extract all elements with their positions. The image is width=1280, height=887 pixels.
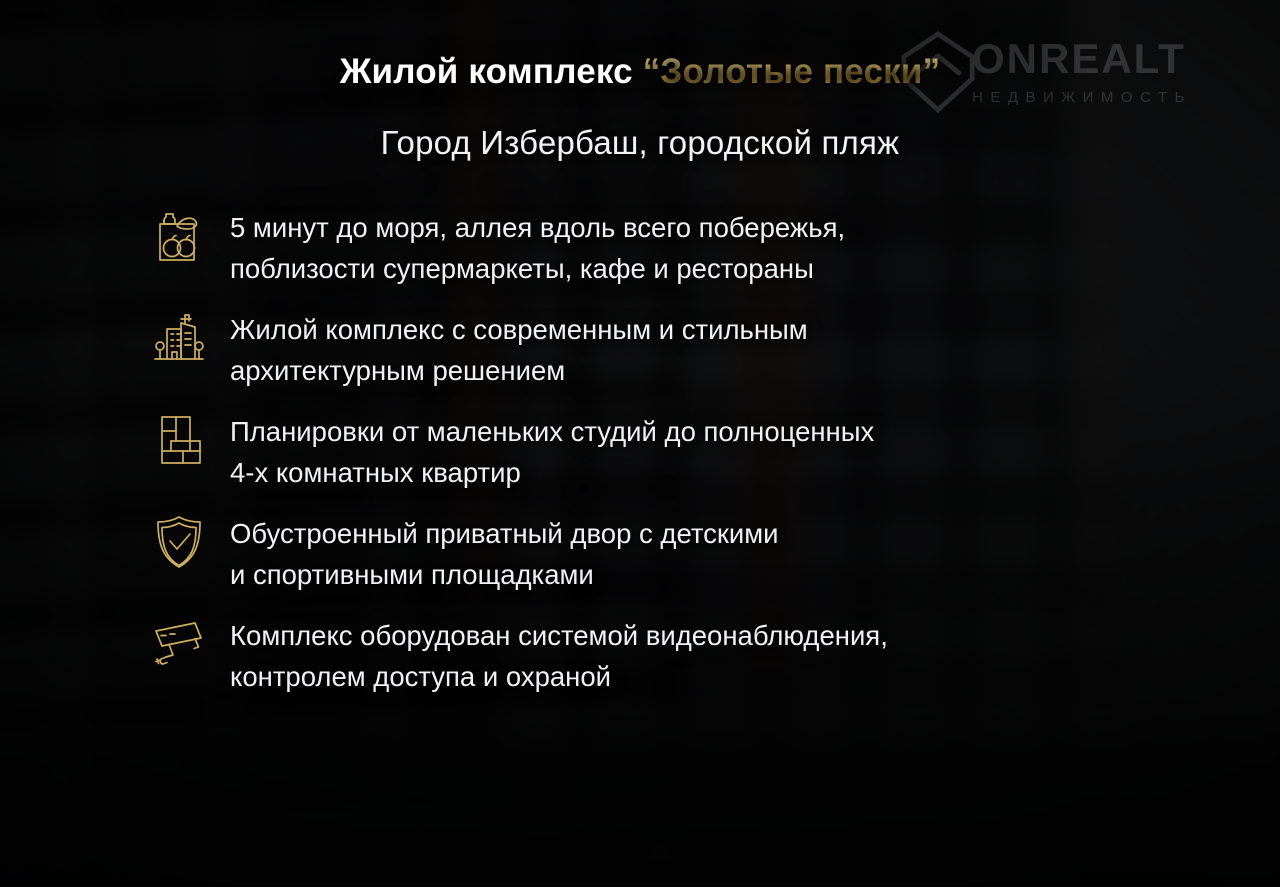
poster-content: Жилой комплекс “Золотые пески” Город Изб… [0, 0, 1280, 887]
grocery-bag-icon [150, 205, 208, 267]
list-item: Жилой комплекс с современным и стильным … [150, 307, 1160, 391]
promo-poster: ONREALT НЕДВИЖИМОСТЬ Жилой комплекс “Зол… [0, 0, 1280, 887]
feature-list: 5 минут до моря, аллея вдоль всего побер… [150, 205, 1160, 697]
list-item-label: Обустроенный приватный двор с детскими и… [230, 511, 779, 595]
page-subtitle: Город Избербаш, городской пляж [0, 124, 1280, 162]
title-complex-name: “Золотые пески” [643, 52, 941, 91]
list-item-label: Планировки от маленьких студий до полноц… [230, 409, 874, 493]
list-item: 5 минут до моря, аллея вдоль всего побер… [150, 205, 1160, 289]
shield-check-icon [150, 511, 208, 573]
list-item-label: Комплекс оборудован системой видеонаблюд… [230, 613, 888, 697]
security-camera-icon [150, 613, 208, 675]
list-item: Комплекс оборудован системой видеонаблюд… [150, 613, 1160, 697]
list-item: Обустроенный приватный двор с детскими и… [150, 511, 1160, 595]
list-item-label: Жилой комплекс с современным и стильным … [230, 307, 808, 391]
title-main: Жилой комплекс [340, 52, 643, 91]
page-title: Жилой комплекс “Золотые пески” [0, 52, 1280, 92]
list-item: Планировки от маленьких студий до полноц… [150, 409, 1160, 493]
floor-plan-icon [150, 409, 208, 471]
city-buildings-icon [150, 307, 208, 369]
list-item-label: 5 минут до моря, аллея вдоль всего побер… [230, 205, 845, 289]
